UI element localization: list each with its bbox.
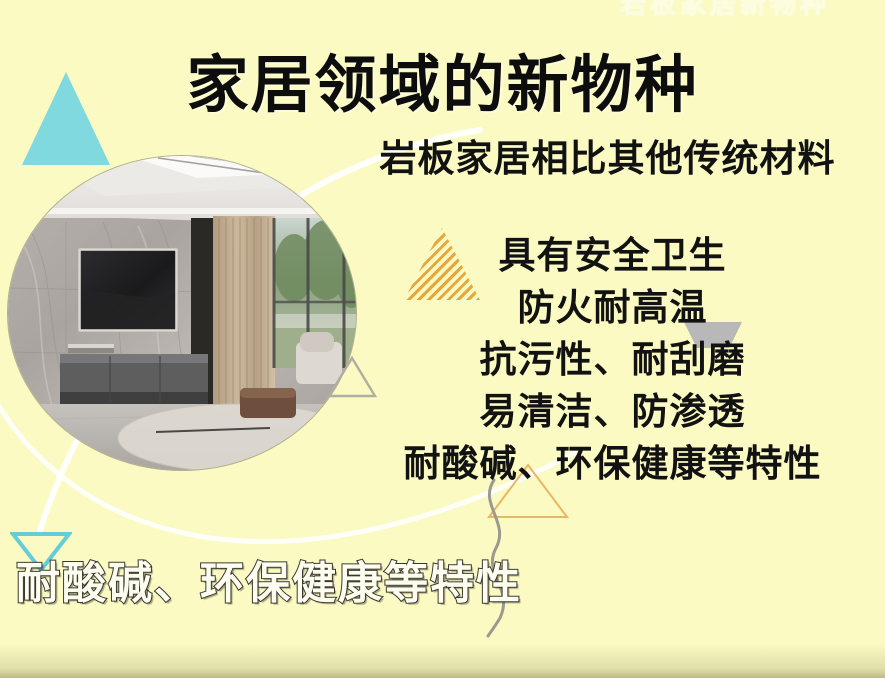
feature-item: 具有安全卫生 <box>340 230 885 282</box>
page-title: 家居领域的新物种 <box>0 50 885 120</box>
feature-list: 具有安全卫生 防火耐高温 抗污性、耐刮磨 易清洁、防渗透 耐酸碱、环保健康等特性 <box>340 230 885 490</box>
slide-canvas: 岩板家居新物种 <box>0 0 885 678</box>
feature-item: 抗污性、耐刮磨 <box>340 334 885 386</box>
subtitle-caption: 耐酸碱、环保健康等特性 <box>16 556 522 612</box>
feature-item: 防火耐高温 <box>340 282 885 334</box>
bottom-gradient-strip <box>0 644 885 678</box>
top-ghost-text: 岩板家居新物种 <box>620 0 830 21</box>
living-room-photo <box>8 156 356 470</box>
feature-item: 易清洁、防渗透 <box>340 386 885 438</box>
feature-item: 耐酸碱、环保健康等特性 <box>340 438 885 490</box>
lead-text: 岩板家居相比其他传统材料 <box>330 136 885 182</box>
